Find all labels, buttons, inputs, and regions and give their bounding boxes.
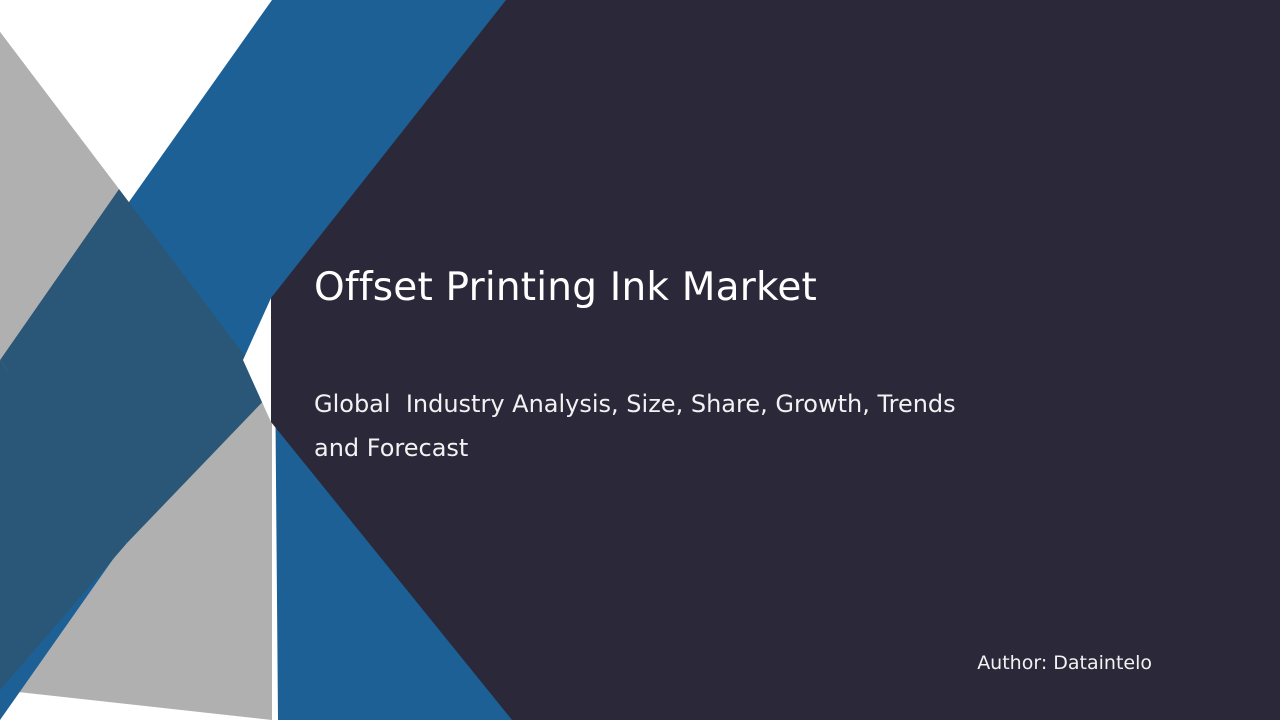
author-credit: Author: Dataintelo bbox=[0, 649, 1152, 677]
page-title: Offset Printing Ink Market bbox=[314, 262, 1114, 314]
slide-text-layer: Offset Printing Ink Market Global Indust… bbox=[0, 0, 1280, 720]
title-slide: Offset Printing Ink Market Global Indust… bbox=[0, 0, 1280, 720]
slide-subtitle: Global Industry Analysis, Size, Share, G… bbox=[314, 382, 994, 470]
